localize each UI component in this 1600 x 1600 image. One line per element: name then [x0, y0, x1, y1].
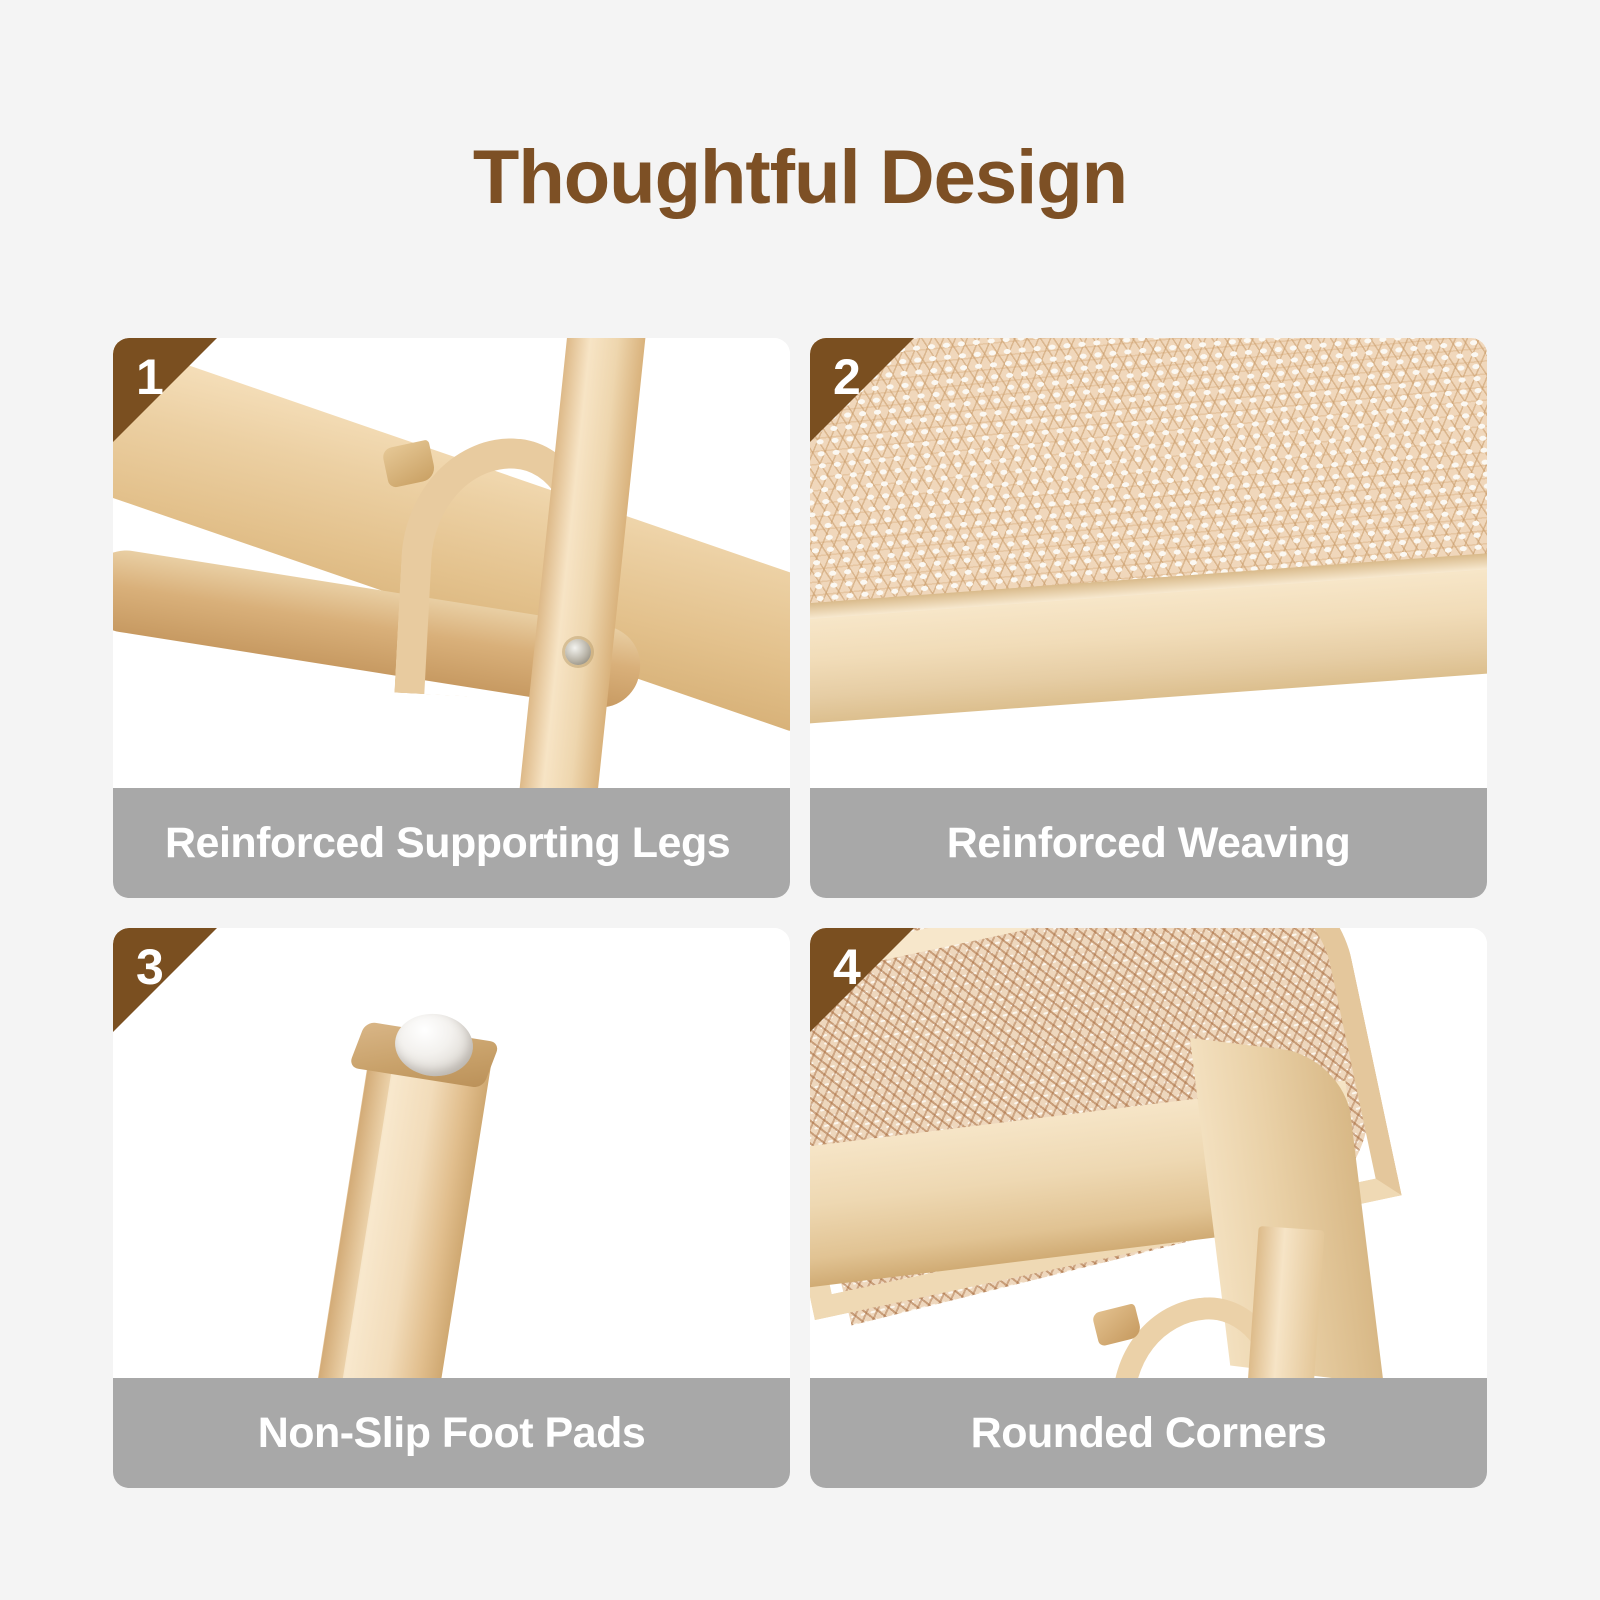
wood-leg — [1245, 1226, 1324, 1378]
feature-card-4[interactable]: 4 Rounded Corners — [810, 928, 1487, 1488]
feature-card-grid: 1 Reinforced Supporting Legs 2 Reinforce… — [113, 338, 1487, 1488]
product-feature-infographic: Thoughtful Design 1 Reinforced Supportin… — [0, 0, 1600, 1600]
feature-photo-reinforced-weaving — [810, 338, 1487, 788]
feature-photo-rounded-corners — [810, 928, 1487, 1378]
feature-photo-reinforced-supporting-legs — [113, 338, 790, 788]
metal-screw-icon — [565, 639, 591, 665]
page-title: Thoughtful Design — [0, 138, 1600, 218]
feature-card-3[interactable]: 3 Non-Slip Foot Pads — [113, 928, 790, 1488]
feature-photo-non-slip-foot-pads — [113, 928, 790, 1378]
feature-caption-2: Reinforced Weaving — [810, 788, 1487, 898]
feature-card-2[interactable]: 2 Reinforced Weaving — [810, 338, 1487, 898]
feature-caption-1: Reinforced Supporting Legs — [113, 788, 790, 898]
feature-caption-3: Non-Slip Foot Pads — [113, 1378, 790, 1488]
feature-caption-4: Rounded Corners — [810, 1378, 1487, 1488]
feature-card-1[interactable]: 1 Reinforced Supporting Legs — [113, 338, 790, 898]
